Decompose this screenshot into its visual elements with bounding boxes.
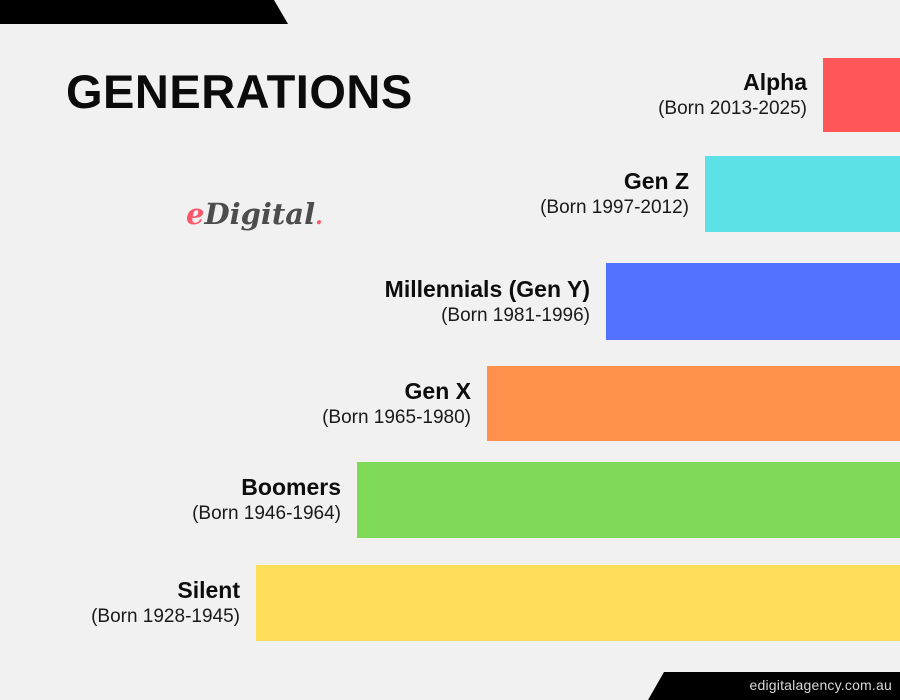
infographic-canvas: GENERATIONS eDigital. Alpha(Born 2013-20… xyxy=(0,0,900,700)
bar-label-group: Boomers(Born 1946-1964) xyxy=(0,474,341,526)
bar-row: Alpha(Born 2013-2025) xyxy=(0,58,900,132)
bar-alpha xyxy=(823,58,900,132)
bar-label-group: Gen X(Born 1965-1980) xyxy=(0,378,471,430)
bar-name: Millennials (Gen Y) xyxy=(30,276,590,302)
bar-birth-years: (Born 1946-1964) xyxy=(0,503,341,526)
bar-name: Gen Z xyxy=(129,168,689,194)
bar-birth-years: (Born 1997-2012) xyxy=(129,197,689,220)
generations-bar-chart: Alpha(Born 2013-2025)Gen Z(Born 1997-201… xyxy=(0,0,900,700)
bar-row: Gen Z(Born 1997-2012) xyxy=(0,156,900,232)
bar-gen-x xyxy=(487,366,900,441)
bar-birth-years: (Born 1981-1996) xyxy=(30,305,590,328)
bar-birth-years: (Born 2013-2025) xyxy=(247,98,807,121)
bar-row: Gen X(Born 1965-1980) xyxy=(0,366,900,441)
bar-row: Millennials (Gen Y)(Born 1981-1996) xyxy=(0,263,900,340)
bar-row: Boomers(Born 1946-1964) xyxy=(0,462,900,538)
bar-name: Alpha xyxy=(247,69,807,95)
bar-silent xyxy=(256,565,900,641)
bar-label-group: Silent(Born 1928-1945) xyxy=(0,577,240,629)
bar-name: Silent xyxy=(0,577,240,603)
bar-label-group: Alpha(Born 2013-2025) xyxy=(247,69,807,121)
bar-birth-years: (Born 1928-1945) xyxy=(0,606,240,629)
bar-row: Silent(Born 1928-1945) xyxy=(0,565,900,641)
bar-gen-z xyxy=(705,156,900,232)
footer-website-url: edigitalagency.com.au xyxy=(750,677,892,693)
bar-birth-years: (Born 1965-1980) xyxy=(0,407,471,430)
footer-black-banner: edigitalagency.com.au xyxy=(648,672,900,700)
bar-name: Boomers xyxy=(0,474,341,500)
bar-millennials-gen-y xyxy=(606,263,900,340)
bar-label-group: Gen Z(Born 1997-2012) xyxy=(129,168,689,220)
bar-boomers xyxy=(357,462,900,538)
bar-label-group: Millennials (Gen Y)(Born 1981-1996) xyxy=(30,276,590,328)
bar-name: Gen X xyxy=(0,378,471,404)
